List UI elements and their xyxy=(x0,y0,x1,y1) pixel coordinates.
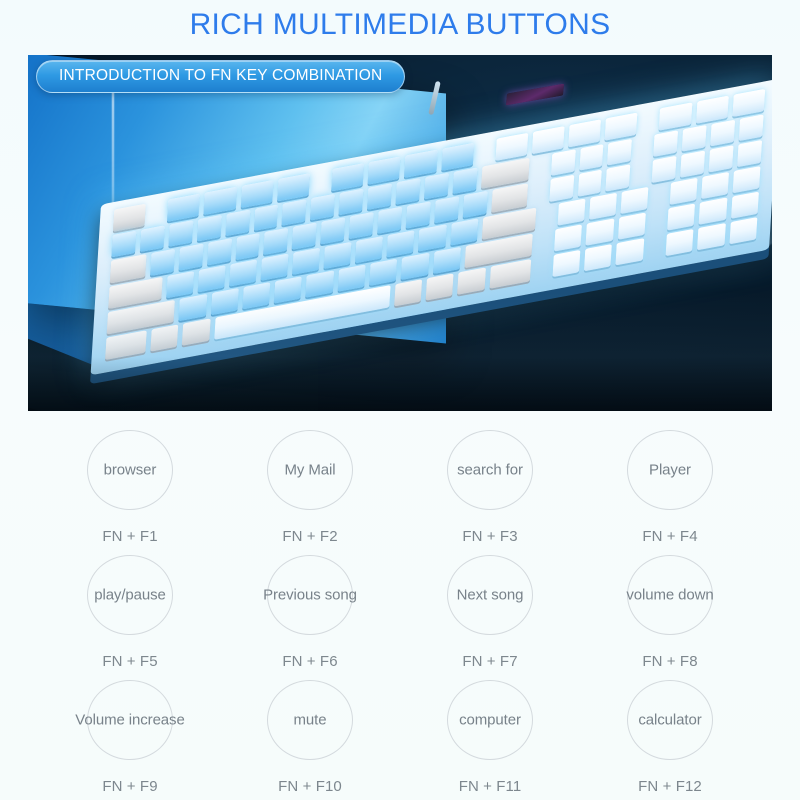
shortcut-circle: play/pause xyxy=(87,555,173,635)
keycap xyxy=(732,89,765,117)
shortcut-item-volume-down[interactable]: volume down FN + F8 xyxy=(580,545,760,670)
keycap-gap xyxy=(641,109,655,134)
shortcut-circle: Player xyxy=(627,430,713,510)
keycap xyxy=(696,96,729,124)
keycap xyxy=(321,217,346,244)
shortcut-label: Next song xyxy=(457,587,524,604)
keycap xyxy=(682,125,707,152)
keycap xyxy=(337,264,365,291)
shortcut-circle: Next song xyxy=(447,555,533,635)
keycap xyxy=(441,143,474,171)
shortcut-label: Previous song xyxy=(263,587,357,604)
keycap xyxy=(229,259,257,286)
keycap xyxy=(167,194,200,222)
keycap xyxy=(586,218,614,245)
shortcut-label: Player xyxy=(649,462,691,479)
keycap xyxy=(450,218,478,245)
shortcut-combo: FN + F2 xyxy=(282,528,337,545)
keycap xyxy=(396,178,421,205)
keycap xyxy=(261,253,289,280)
keycap xyxy=(253,204,278,231)
page-root: RICH MULTIMEDIA BUTTONS xyxy=(0,0,800,800)
shortcut-item-next-song[interactable]: Next song FN + F7 xyxy=(400,545,580,670)
shortcut-label: volume down xyxy=(626,587,713,604)
shortcut-item-browser[interactable]: browser FN + F1 xyxy=(40,420,220,545)
keycap xyxy=(667,203,695,230)
keycap xyxy=(659,102,692,130)
keycap xyxy=(282,199,307,226)
keycap-gap xyxy=(652,183,666,208)
keycap xyxy=(550,149,575,176)
keycap xyxy=(349,212,374,239)
shortcut-label: Volume increase xyxy=(75,712,184,729)
shortcut-circle: volume down xyxy=(627,555,713,635)
shortcut-item-player[interactable]: Player FN + F4 xyxy=(580,420,760,545)
shortcut-item-computer[interactable]: computer FN + F11 xyxy=(400,670,580,795)
keycap xyxy=(235,233,260,260)
keycap xyxy=(355,236,383,263)
keycap xyxy=(369,258,397,285)
shortcut-item-volume-increase[interactable]: Volume increase FN + F9 xyxy=(40,670,220,795)
keycap xyxy=(710,120,735,147)
shortcut-circle: mute xyxy=(267,680,353,760)
keycap xyxy=(737,140,762,167)
keycap xyxy=(620,187,648,214)
keycap-gap xyxy=(531,180,545,205)
keycap-gap xyxy=(649,209,663,234)
keycap xyxy=(404,150,437,178)
keycap xyxy=(709,145,734,172)
keycap xyxy=(739,114,764,141)
shortcut-circle: Previous song xyxy=(267,555,353,635)
shortcut-item-my-mail[interactable]: My Mail FN + F2 xyxy=(220,420,400,545)
keycap-tab xyxy=(110,254,147,283)
shortcut-label: calculator xyxy=(638,712,701,729)
shortcut-combo: FN + F8 xyxy=(642,653,697,670)
keycap xyxy=(568,119,601,147)
keycap xyxy=(699,197,727,224)
shortcut-combo: FN + F1 xyxy=(102,528,157,545)
shortcut-circle: search for xyxy=(447,430,533,510)
shortcut-label: mute xyxy=(294,712,327,729)
keycap xyxy=(579,144,604,171)
keycap xyxy=(463,191,488,218)
keycap xyxy=(406,202,431,229)
keycap xyxy=(377,207,402,234)
keycap xyxy=(701,172,729,199)
keycap xyxy=(111,231,136,258)
keycap xyxy=(198,265,226,292)
shortcut-combo: FN + F4 xyxy=(642,528,697,545)
keycap xyxy=(577,170,602,197)
keycap xyxy=(204,187,237,215)
shortcut-combo: FN + F11 xyxy=(459,778,522,795)
shortcut-label: search for xyxy=(457,462,523,479)
keycap xyxy=(339,189,364,216)
keycap xyxy=(731,191,759,218)
keycap xyxy=(669,177,697,204)
keycap xyxy=(387,230,415,257)
keycap xyxy=(140,225,165,252)
keycap xyxy=(168,220,193,247)
shortcut-circle: computer xyxy=(447,680,533,760)
keycap xyxy=(532,126,565,154)
page-title: RICH MULTIMEDIA BUTTONS xyxy=(0,8,800,42)
shortcut-circle: Volume increase xyxy=(87,680,173,760)
keycap xyxy=(292,223,317,250)
keycap xyxy=(424,173,449,200)
keycap-gap xyxy=(533,155,547,180)
keycap xyxy=(225,210,250,237)
keycap xyxy=(605,112,638,140)
desk-sheen xyxy=(28,291,772,411)
keycap-gap xyxy=(540,204,554,229)
keycap-gap xyxy=(535,256,549,281)
keycap xyxy=(549,175,574,202)
keycap xyxy=(618,212,646,239)
keycap xyxy=(331,163,364,191)
shortcut-combo: FN + F12 xyxy=(638,778,702,795)
shortcut-circle: browser xyxy=(87,430,173,510)
shortcut-combo: FN + F3 xyxy=(462,528,517,545)
shortcut-label: My Mail xyxy=(285,462,336,479)
shortcut-combo: FN + F6 xyxy=(282,653,337,670)
keycap-gap xyxy=(477,140,491,165)
keycap xyxy=(452,168,477,195)
keycap xyxy=(732,166,760,193)
keycap-gap xyxy=(634,161,648,186)
keycap xyxy=(310,194,335,221)
shortcut-combo: FN + F5 xyxy=(102,653,157,670)
keycap xyxy=(554,224,582,251)
shortcut-circle: My Mail xyxy=(267,430,353,510)
shortcut-item-previous-song[interactable]: Previous song FN + F6 xyxy=(220,545,400,670)
shortcut-label: browser xyxy=(104,462,157,479)
keycap xyxy=(277,173,310,201)
keycap xyxy=(607,139,632,166)
keycap xyxy=(606,164,631,191)
keycap xyxy=(292,247,320,274)
shortcut-grid: browser FN + F1 My Mail FN + F2 search f… xyxy=(0,420,800,795)
keycap xyxy=(433,247,461,274)
keycap-gap xyxy=(313,170,327,195)
keycap xyxy=(113,204,146,232)
shortcut-item-play-pause[interactable]: play/pause FN + F5 xyxy=(40,545,220,670)
shortcut-item-search-for[interactable]: search for FN + F3 xyxy=(400,420,580,545)
shortcut-combo: FN + F9 xyxy=(102,778,157,795)
hero-image-panel: INTRODUCTION TO FN KEY COMBINATION xyxy=(28,55,772,411)
keycap xyxy=(240,180,273,208)
shortcut-circle: calculator xyxy=(627,680,713,760)
keycap xyxy=(589,192,617,219)
keycap xyxy=(178,244,203,271)
keycap-gap xyxy=(636,136,650,161)
shortcut-combo: FN + F7 xyxy=(462,653,517,670)
keycap xyxy=(418,224,446,251)
keycap xyxy=(368,156,401,184)
hero-banner-label: INTRODUCTION TO FN KEY COMBINATION xyxy=(36,60,405,93)
shortcut-item-calculator[interactable]: calculator FN + F12 xyxy=(580,670,760,795)
keycap xyxy=(653,130,678,157)
keycap xyxy=(680,151,705,178)
shortcut-item-mute[interactable]: mute FN + F10 xyxy=(220,670,400,795)
keycap-gap xyxy=(149,200,163,225)
keycap xyxy=(434,196,459,223)
keycap-backslash xyxy=(491,184,528,213)
keycap xyxy=(150,249,175,276)
keycap xyxy=(324,241,352,268)
keycap xyxy=(652,156,677,183)
keycap xyxy=(557,198,585,225)
keycap xyxy=(401,252,429,279)
shortcut-combo: FN + F10 xyxy=(278,778,342,795)
keycap xyxy=(207,238,232,265)
keycap xyxy=(495,133,528,161)
keycap xyxy=(367,183,392,210)
keycap xyxy=(197,215,222,242)
keycap xyxy=(264,228,289,255)
keycap-gap xyxy=(648,235,662,260)
shortcut-label: play/pause xyxy=(94,587,166,604)
shortcut-label: computer xyxy=(459,712,521,729)
keycap-gap xyxy=(537,230,551,255)
